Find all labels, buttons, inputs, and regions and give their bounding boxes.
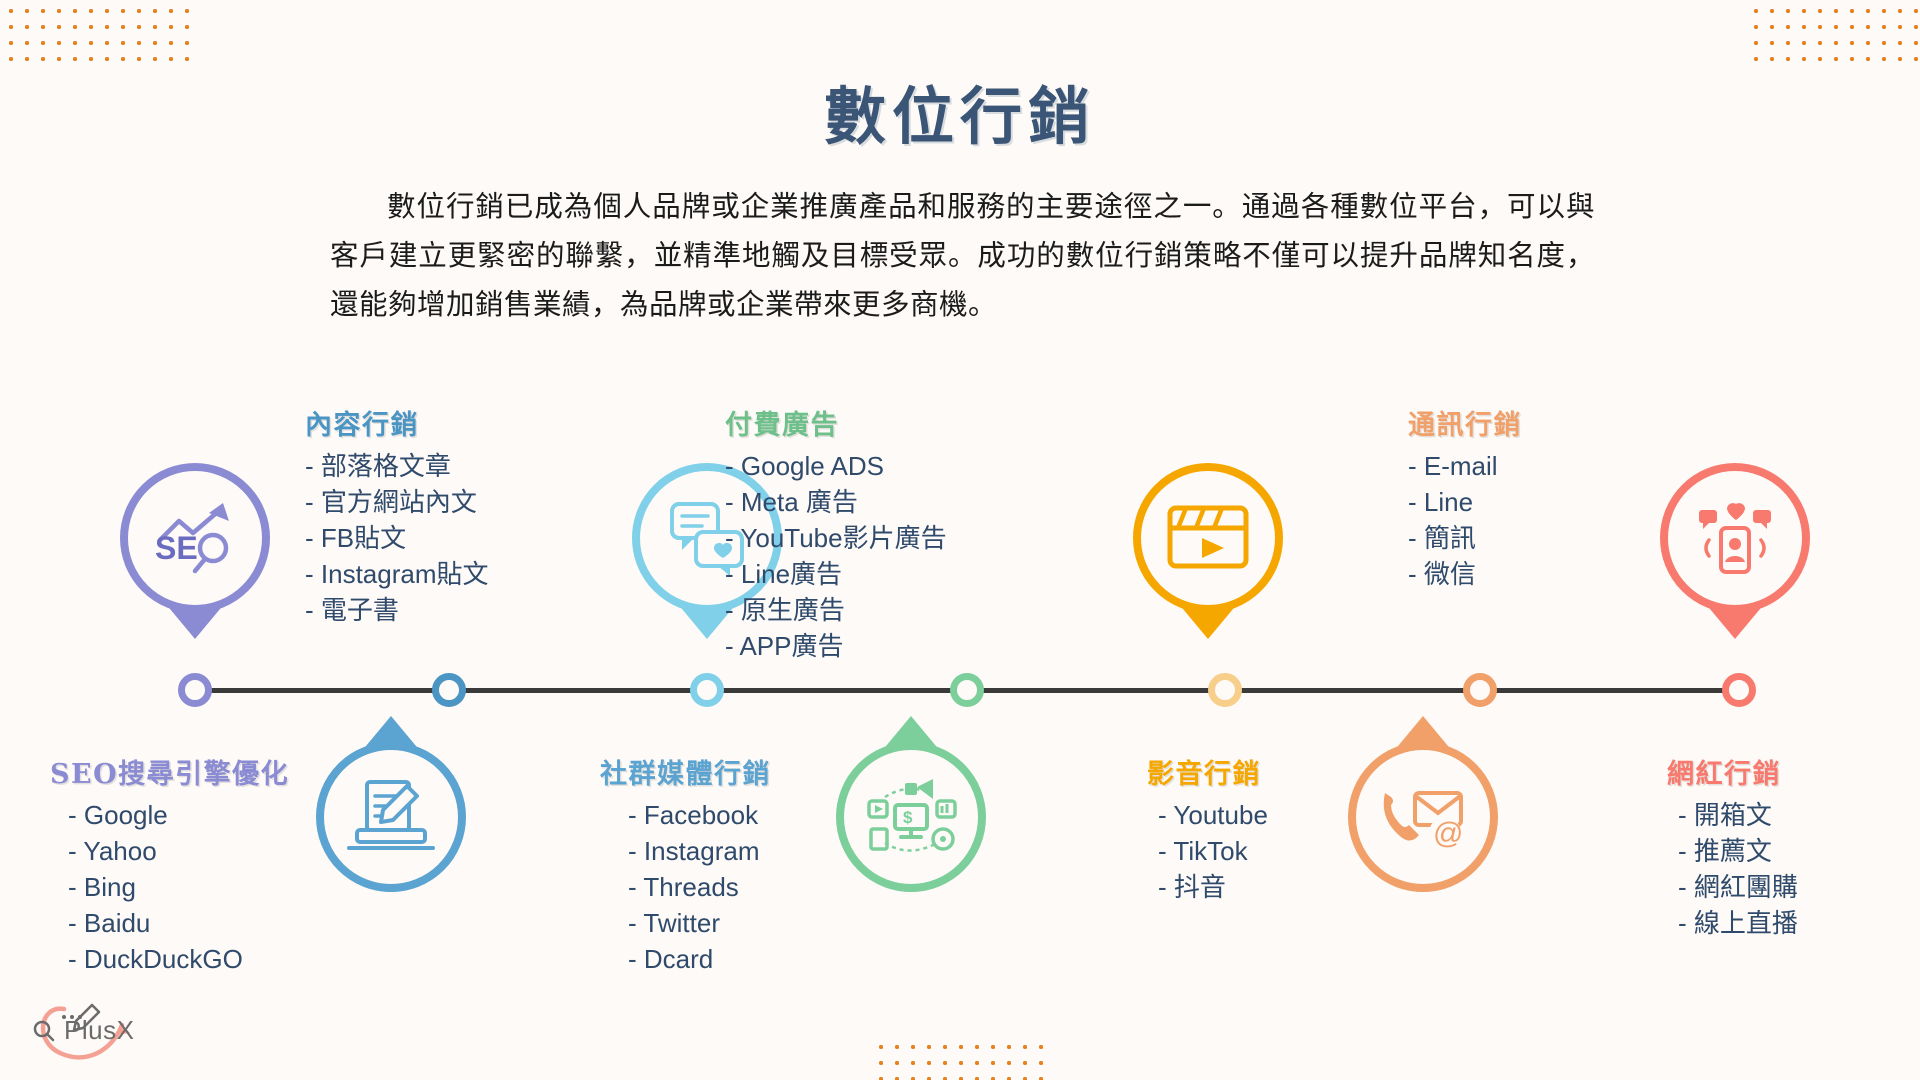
pin-social-media[interactable]	[316, 742, 466, 892]
megaphone-screen-icon: $	[859, 773, 963, 861]
list-item: 簡訊	[1408, 520, 1522, 556]
pin-influencer[interactable]	[1660, 463, 1810, 613]
pin-communication[interactable]: @	[1348, 742, 1498, 892]
dot-pattern-top-left	[0, 0, 190, 62]
heading-paid-ads: 付費廣告	[725, 403, 947, 442]
phone-email-icon: @	[1371, 775, 1475, 859]
dot-pattern-bottom-center	[870, 1036, 1055, 1080]
heading-social-media: 社群媒體行銷	[600, 752, 771, 791]
list-item: Google	[68, 797, 289, 833]
list-item: Line	[1408, 484, 1522, 520]
laptop-pen-icon	[341, 774, 441, 860]
heading-influencer: 網紅行銷	[1650, 752, 1798, 791]
list-item: 原生廣告	[725, 592, 947, 628]
list-item: YouTube影片廣告	[725, 520, 947, 556]
seo-magnifier-icon: SE	[147, 495, 243, 581]
list-video-marketing: Youtube TikTok 抖音	[1140, 797, 1268, 905]
list-item: DuckDuckGO	[68, 941, 289, 977]
pin-paid-ads-icons[interactable]: $	[836, 742, 986, 892]
timeline-node-content	[432, 673, 466, 707]
list-item: 網紅團購	[1678, 869, 1798, 905]
list-item: Youtube	[1158, 797, 1268, 833]
list-item: Threads	[628, 869, 771, 905]
pin-seo[interactable]: SE	[120, 463, 270, 613]
list-item: 開箱文	[1678, 797, 1798, 833]
svg-text:SE: SE	[155, 530, 198, 566]
list-item: 部落格文章	[305, 448, 489, 484]
list-item: Instagram貼文	[305, 556, 489, 592]
block-communication: 通訊行銷 E-mail Line 簡訊 微信	[1408, 403, 1522, 592]
logo-text: PlusX	[64, 1015, 134, 1046]
list-item: Yahoo	[68, 833, 289, 869]
list-item: Twitter	[628, 905, 771, 941]
list-item: 官方網站內文	[305, 484, 489, 520]
intro-paragraph: 數位行銷已成為個人品牌或企業推廣產品和服務的主要途徑之一。通過各種數位平台，可以…	[330, 182, 1595, 329]
list-item: 電子書	[305, 592, 489, 628]
timeline-node-seo	[178, 673, 212, 707]
phone-hearts-icon	[1685, 494, 1785, 582]
list-paid-ads: Google ADS Meta 廣告 YouTube影片廣告 Line廣告 原生…	[725, 448, 947, 664]
timeline-node-social	[690, 673, 724, 707]
infographic-canvas: 數位行銷 數位行銷已成為個人品牌或企業推廣產品和服務的主要途徑之一。通過各種數位…	[0, 0, 1920, 1080]
list-content-marketing: 部落格文章 官方網站內文 FB貼文 Instagram貼文 電子書	[305, 448, 489, 628]
block-content-marketing: 內容行銷 部落格文章 官方網站內文 FB貼文 Instagram貼文 電子書	[305, 403, 489, 628]
list-item: FB貼文	[305, 520, 489, 556]
svg-text:$: $	[903, 808, 913, 827]
page-title: 數位行銷	[0, 66, 1920, 156]
list-item: 線上直播	[1678, 905, 1798, 941]
list-influencer: 開箱文 推薦文 網紅團購 線上直播	[1650, 797, 1798, 941]
timeline-node-influencer	[1722, 673, 1756, 707]
list-item: 推薦文	[1678, 833, 1798, 869]
list-item: Google ADS	[725, 448, 947, 484]
list-item: E-mail	[1408, 448, 1522, 484]
plusx-logo: PlusX	[20, 995, 170, 1065]
dot-pattern-top-right	[1745, 0, 1920, 62]
heading-seo: SEO搜尋引擎優化	[50, 752, 289, 791]
list-social-media: Facebook Instagram Threads Twitter Dcard	[600, 797, 771, 977]
timeline-node-paid-ads	[950, 673, 984, 707]
svg-text:@: @	[1433, 817, 1463, 850]
list-item: Line廣告	[725, 556, 947, 592]
list-item: TikTok	[1158, 833, 1268, 869]
block-seo: SEO搜尋引擎優化 Google Yahoo Bing Baidu DuckDu…	[50, 752, 289, 977]
block-influencer: 網紅行銷 開箱文 推薦文 網紅團購 線上直播	[1650, 752, 1798, 941]
list-item: APP廣告	[725, 628, 947, 664]
pin-paid-ads[interactable]	[1133, 463, 1283, 613]
block-paid-ads: 付費廣告 Google ADS Meta 廣告 YouTube影片廣告 Line…	[725, 403, 947, 664]
list-item: 微信	[1408, 556, 1522, 592]
timeline-node-video	[1208, 673, 1242, 707]
list-item: 抖音	[1158, 869, 1268, 905]
list-item: Dcard	[628, 941, 771, 977]
video-play-icon	[1158, 496, 1258, 580]
heading-video-marketing: 影音行銷	[1140, 752, 1268, 791]
heading-communication: 通訊行銷	[1408, 403, 1522, 442]
block-social-media: 社群媒體行銷 Facebook Instagram Threads Twitte…	[600, 752, 771, 977]
block-video-marketing: 影音行銷 Youtube TikTok 抖音	[1140, 752, 1268, 905]
list-item: Baidu	[68, 905, 289, 941]
timeline-node-comm	[1463, 673, 1497, 707]
list-item: Facebook	[628, 797, 771, 833]
list-item: Bing	[68, 869, 289, 905]
list-item: Instagram	[628, 833, 771, 869]
list-communication: E-mail Line 簡訊 微信	[1408, 448, 1522, 592]
list-seo: Google Yahoo Bing Baidu DuckDuckGO	[50, 797, 289, 977]
list-item: Meta 廣告	[725, 484, 947, 520]
heading-content-marketing: 內容行銷	[305, 403, 489, 442]
